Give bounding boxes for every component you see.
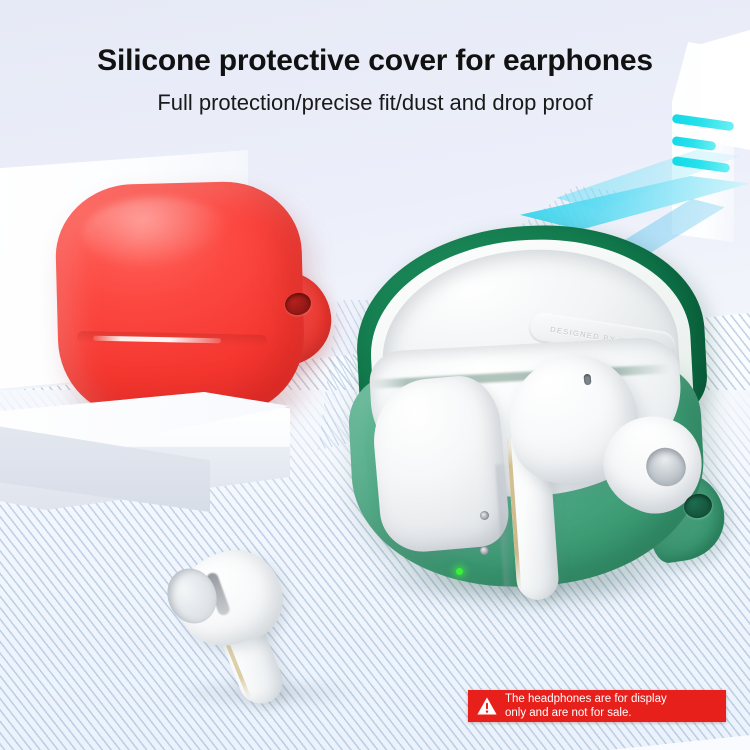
product-image-canvas: Silicone protective cover for earphones … <box>0 0 750 750</box>
red-silicone-case <box>57 183 317 415</box>
led-indicator <box>456 568 463 575</box>
display-only-warning-banner: The headphones are for display only and … <box>468 690 726 722</box>
charging-pin-2 <box>480 546 489 555</box>
earbud-microphone-port <box>583 374 591 386</box>
warning-triangle-icon <box>476 696 498 716</box>
page-subtitle: Full protection/precise fit/dust and dro… <box>0 90 750 116</box>
green-silicone-case-open: DESIGNED BY XIAOMI <box>352 226 730 598</box>
charging-pin-1 <box>480 511 489 520</box>
red-case-highlight <box>83 197 233 271</box>
earbud-left-in-case <box>369 373 512 556</box>
page-title: Silicone protective cover for earphones <box>0 44 750 78</box>
loose-earbud <box>178 546 356 706</box>
warning-text: The headphones are for display only and … <box>505 692 667 720</box>
